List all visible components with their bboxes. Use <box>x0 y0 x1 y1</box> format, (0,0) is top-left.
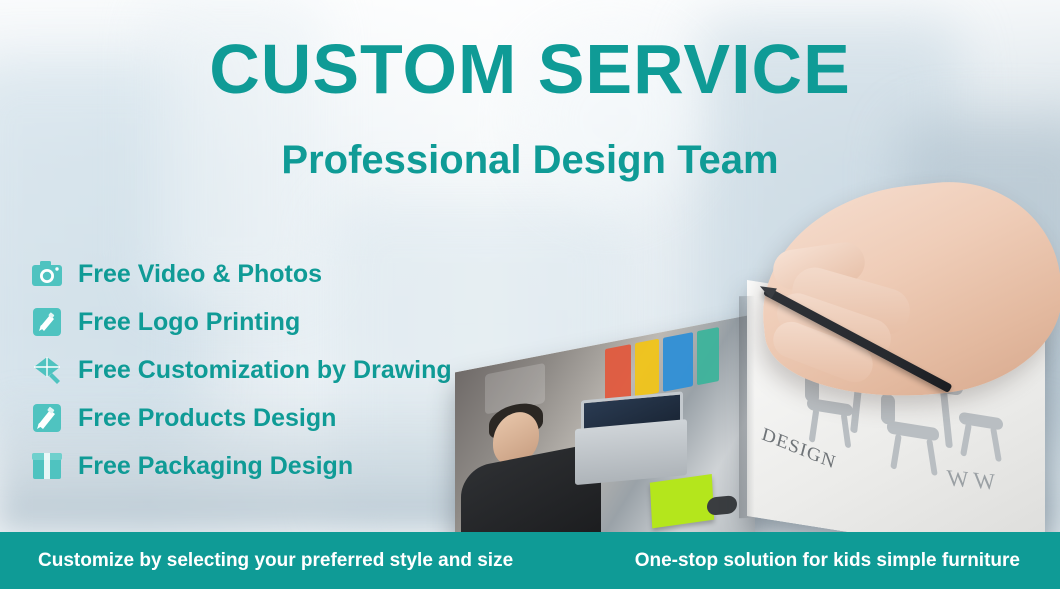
feature-label: Free Video & Photos <box>78 260 322 289</box>
shelf-item <box>697 327 719 385</box>
footer-right-text: One-stop solution for kids simple furnit… <box>635 550 1020 572</box>
drawing-icon <box>30 353 64 387</box>
sketch-word-design: DESIGN <box>759 424 838 474</box>
footer-left-text: Customize by selecting your preferred st… <box>38 550 513 572</box>
promo-banner: CUSTOM SERVICE Professional Design Team … <box>0 0 1060 589</box>
camera-icon <box>30 257 64 291</box>
shelf-item <box>635 339 659 398</box>
feature-label: Free Customization by Drawing <box>78 356 452 385</box>
package-icon <box>30 449 64 483</box>
banner-title: CUSTOM SERVICE <box>0 34 1060 105</box>
computer-mouse <box>707 495 737 516</box>
footer-bar: Customize by selecting your preferred st… <box>0 532 1060 589</box>
feature-item-packaging-design: Free Packaging Design <box>30 442 500 490</box>
shelf-item <box>663 332 693 392</box>
product-design-icon <box>30 401 64 435</box>
feature-label: Free Products Design <box>78 404 336 433</box>
feature-list: Free Video & Photos Free Logo Printing <box>30 250 500 490</box>
sketch-shape <box>926 439 938 475</box>
sketch-shape <box>960 422 972 457</box>
hand-with-pencil <box>731 186 1060 416</box>
logo-print-icon <box>30 305 64 339</box>
feature-item-customization-drawing: Free Customization by Drawing <box>30 346 500 394</box>
laptop-base <box>575 419 687 485</box>
hero-photo: DESIGN W W <box>455 196 1055 541</box>
feature-item-logo-printing: Free Logo Printing <box>30 298 500 346</box>
sticky-note <box>650 474 714 528</box>
feature-item-products-design: Free Products Design <box>30 394 500 442</box>
banner-subtitle: Professional Design Team <box>0 138 1060 183</box>
sketch-shape <box>990 427 1002 462</box>
shelf-item <box>605 344 631 403</box>
feature-label: Free Logo Printing <box>78 308 300 337</box>
sketch-word-initials: W W <box>946 465 996 495</box>
feature-item-video-photos: Free Video & Photos <box>30 250 500 298</box>
sketch-shape <box>890 433 902 470</box>
feature-label: Free Packaging Design <box>78 452 353 481</box>
